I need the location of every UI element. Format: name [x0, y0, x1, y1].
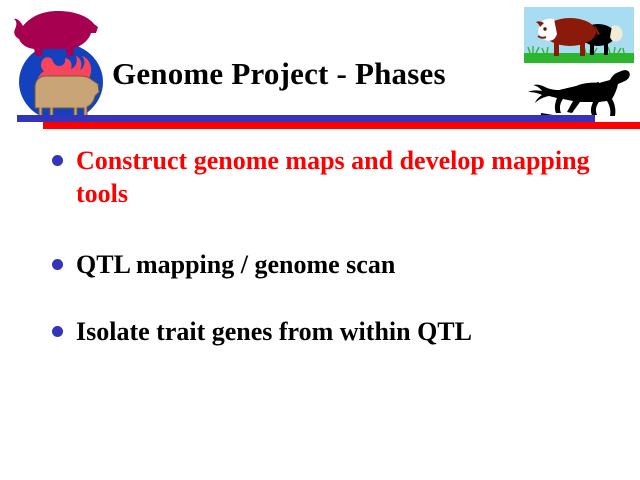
bullet-marker-icon — [52, 259, 63, 270]
list-item: Isolate trait genes from within QTL — [50, 315, 628, 348]
horse-icon — [528, 70, 630, 116]
bullet-text: Construct genome maps and develop mappin… — [76, 146, 590, 208]
galloping-horse-silhouette — [515, 68, 635, 122]
divider-rule-blue — [17, 115, 595, 122]
cattle-in-pasture-image — [524, 7, 634, 63]
bullet-text: QTL mapping / genome scan — [76, 250, 395, 279]
divider-rule-red — [43, 122, 640, 129]
list-item: Construct genome maps and develop mappin… — [50, 144, 628, 210]
farm-animal-logo — [6, 4, 116, 122]
page-title: Genome Project - Phases — [112, 58, 542, 91]
slide-header: Genome Project - Phases — [0, 0, 640, 132]
bullet-text: Isolate trait genes from within QTL — [76, 317, 472, 346]
bullet-list: Construct genome maps and develop mappin… — [50, 144, 628, 370]
bullet-marker-icon — [52, 155, 63, 166]
bullet-marker-icon — [52, 326, 63, 337]
list-item: QTL mapping / genome scan — [50, 248, 628, 281]
presentation-slide: Genome Project - Phases — [0, 0, 640, 480]
grass-band — [524, 53, 634, 63]
